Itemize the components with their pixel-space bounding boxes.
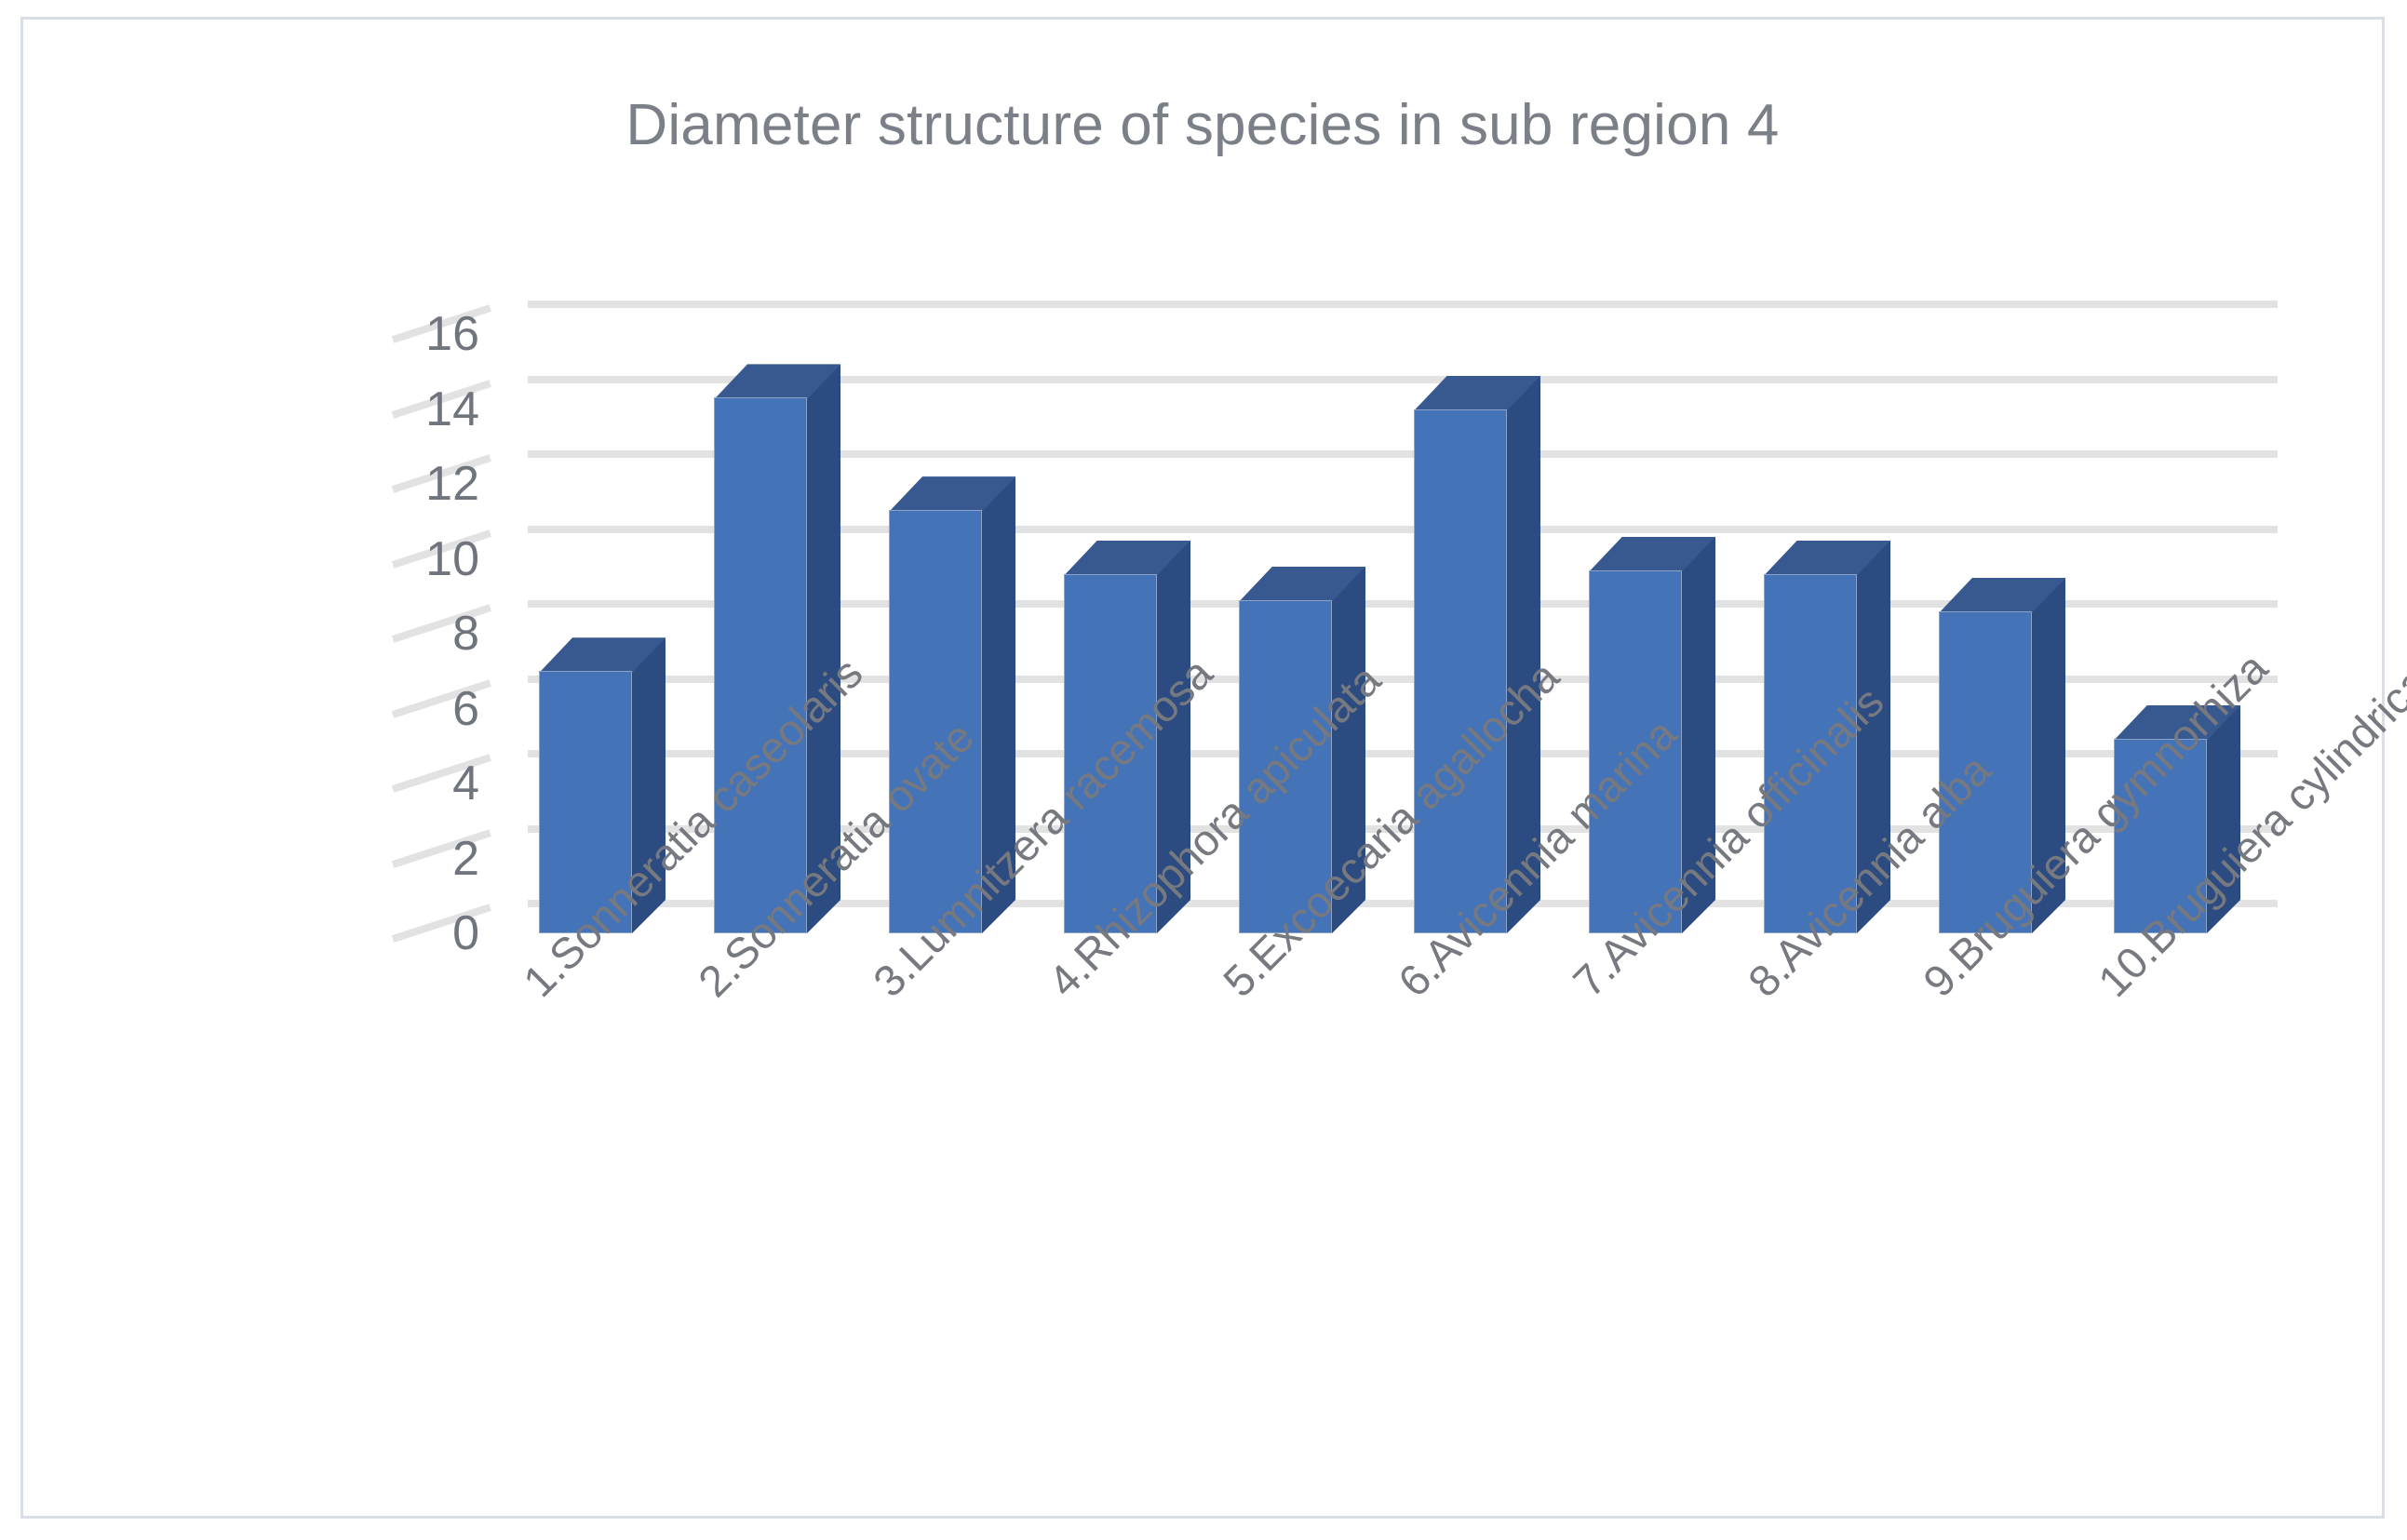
bar-front-face bbox=[714, 397, 807, 933]
chart-frame: Diameter structure of species in sub reg… bbox=[20, 17, 2385, 1519]
bar-series bbox=[23, 20, 2387, 1521]
bar-front-face bbox=[1414, 409, 1507, 934]
plot-area: 0246810121416 1.Sonneratia caseolaris2.S… bbox=[23, 20, 2387, 1521]
